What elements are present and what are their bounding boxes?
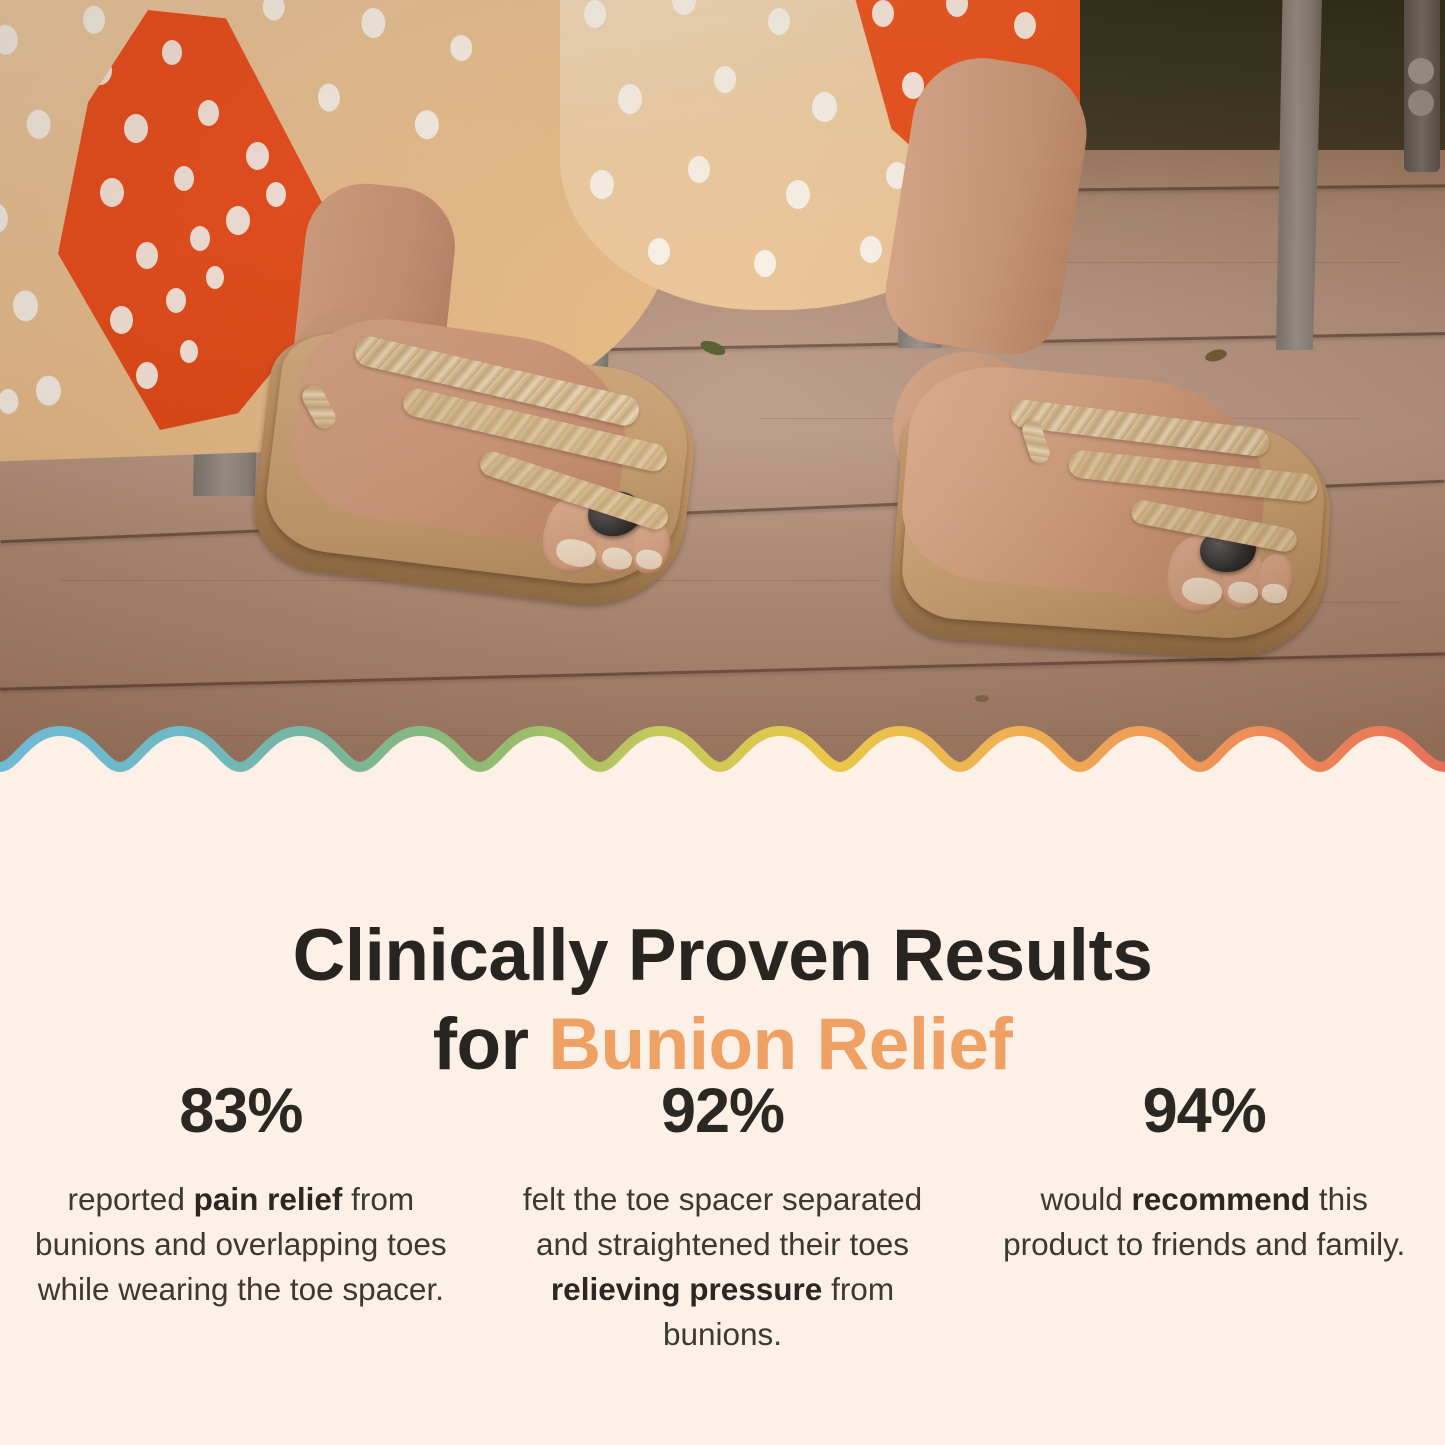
- table-leg-knob: [1408, 58, 1434, 84]
- headline-prefix: for: [433, 1004, 549, 1085]
- stat-card-1: 83% reported pain relief from bunions an…: [0, 1080, 482, 1357]
- product-lifestyle-photo: [0, 0, 1445, 790]
- headline-line-1: Clinically Proven Results: [293, 915, 1153, 996]
- stat-2-text-b: relieving pressure: [551, 1271, 822, 1307]
- stat-3-text-a: would: [1040, 1181, 1131, 1217]
- stats-row: 83% reported pain relief from bunions an…: [0, 1080, 1445, 1357]
- table-leg-edge: [1404, 0, 1440, 172]
- stat-description-3: would recommend this product to friends …: [989, 1177, 1419, 1267]
- headline-accent: Bunion Relief: [548, 1004, 1012, 1085]
- table-leg-knob-2: [1408, 90, 1434, 116]
- stat-1-text-a: reported: [68, 1181, 194, 1217]
- stat-description-1: reported pain relief from bunions and ov…: [26, 1177, 456, 1312]
- stat-card-2: 92% felt the toe spacer separated and st…: [482, 1080, 964, 1357]
- marketing-infographic: Clinically Proven Results for Bunion Rel…: [0, 0, 1445, 1445]
- stat-1-text-b: pain relief: [194, 1181, 343, 1217]
- results-panel: Clinically Proven Results for Bunion Rel…: [0, 780, 1445, 1445]
- page-title: Clinically Proven Results for Bunion Rel…: [0, 911, 1445, 1089]
- stat-number-2: 92%: [508, 1080, 938, 1143]
- stat-2-text-a: felt the toe spacer separated and straig…: [523, 1181, 922, 1262]
- stat-number-3: 94%: [989, 1080, 1419, 1143]
- stat-3-text-b: recommend: [1132, 1181, 1311, 1217]
- stat-description-2: felt the toe spacer separated and straig…: [508, 1177, 938, 1357]
- stat-card-3: 94% would recommend this product to frie…: [963, 1080, 1445, 1357]
- stat-number-1: 83%: [26, 1080, 456, 1143]
